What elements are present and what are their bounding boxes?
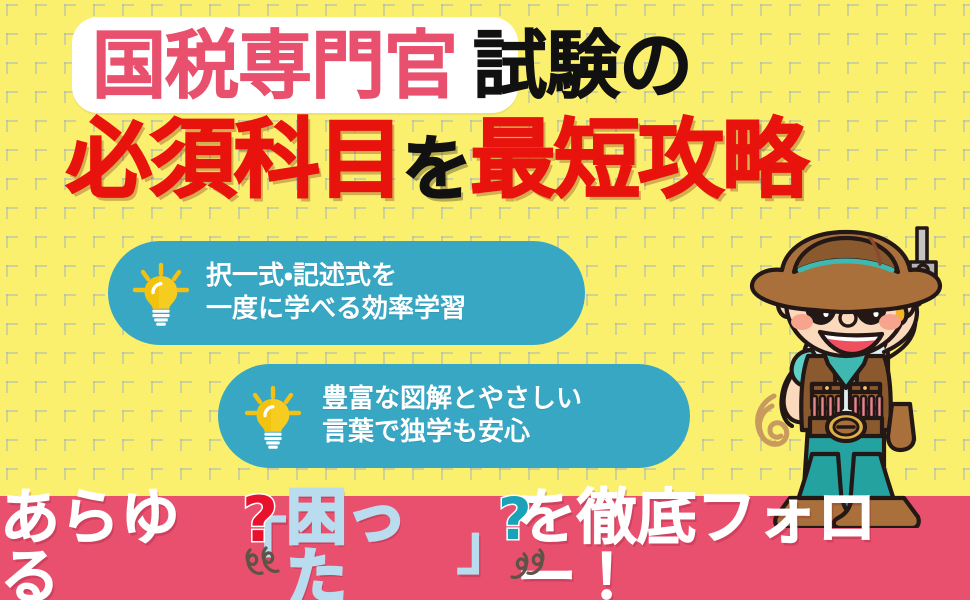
title-line-2: 必須科目 を 最短攻略 xyxy=(0,108,970,212)
cowboy-mascot xyxy=(716,206,970,528)
feature-bubble-1: 択一式・記述式を 一度に学べる効率学習 xyxy=(108,241,585,345)
title-line-1: 国税専門官 試験の xyxy=(0,16,970,116)
title-line2-part1: 必須科目 xyxy=(66,117,402,203)
headline: 国税専門官 試験の 必須科目 を 最短攻略 xyxy=(0,0,970,215)
title-line2-particle: を xyxy=(402,134,470,204)
title-line2-part3: 最短攻略 xyxy=(470,117,806,203)
title-rest-text: 試験の xyxy=(473,29,692,103)
promo-banner: 国税専門官 試験の 必須科目 を 最短攻略 xyxy=(0,0,970,600)
lightbulb-icon xyxy=(236,379,310,453)
lightbulb-icon xyxy=(124,256,198,330)
squiggle-left-icon xyxy=(244,544,294,586)
svg-text:?: ? xyxy=(498,487,532,553)
squiggle-right-icon xyxy=(500,546,550,590)
feature-bubble-2: 豊富な図解とやさしい 言葉で独学も安心 xyxy=(218,364,690,468)
title-highlight-text: 国税専門官 xyxy=(92,29,457,103)
feature-bubble-2-text: 豊富な図解とやさしい 言葉で独学も安心 xyxy=(322,383,582,449)
feature-bubble-1-text: 択一式・記述式を 一度に学べる効率学習 xyxy=(206,260,466,326)
